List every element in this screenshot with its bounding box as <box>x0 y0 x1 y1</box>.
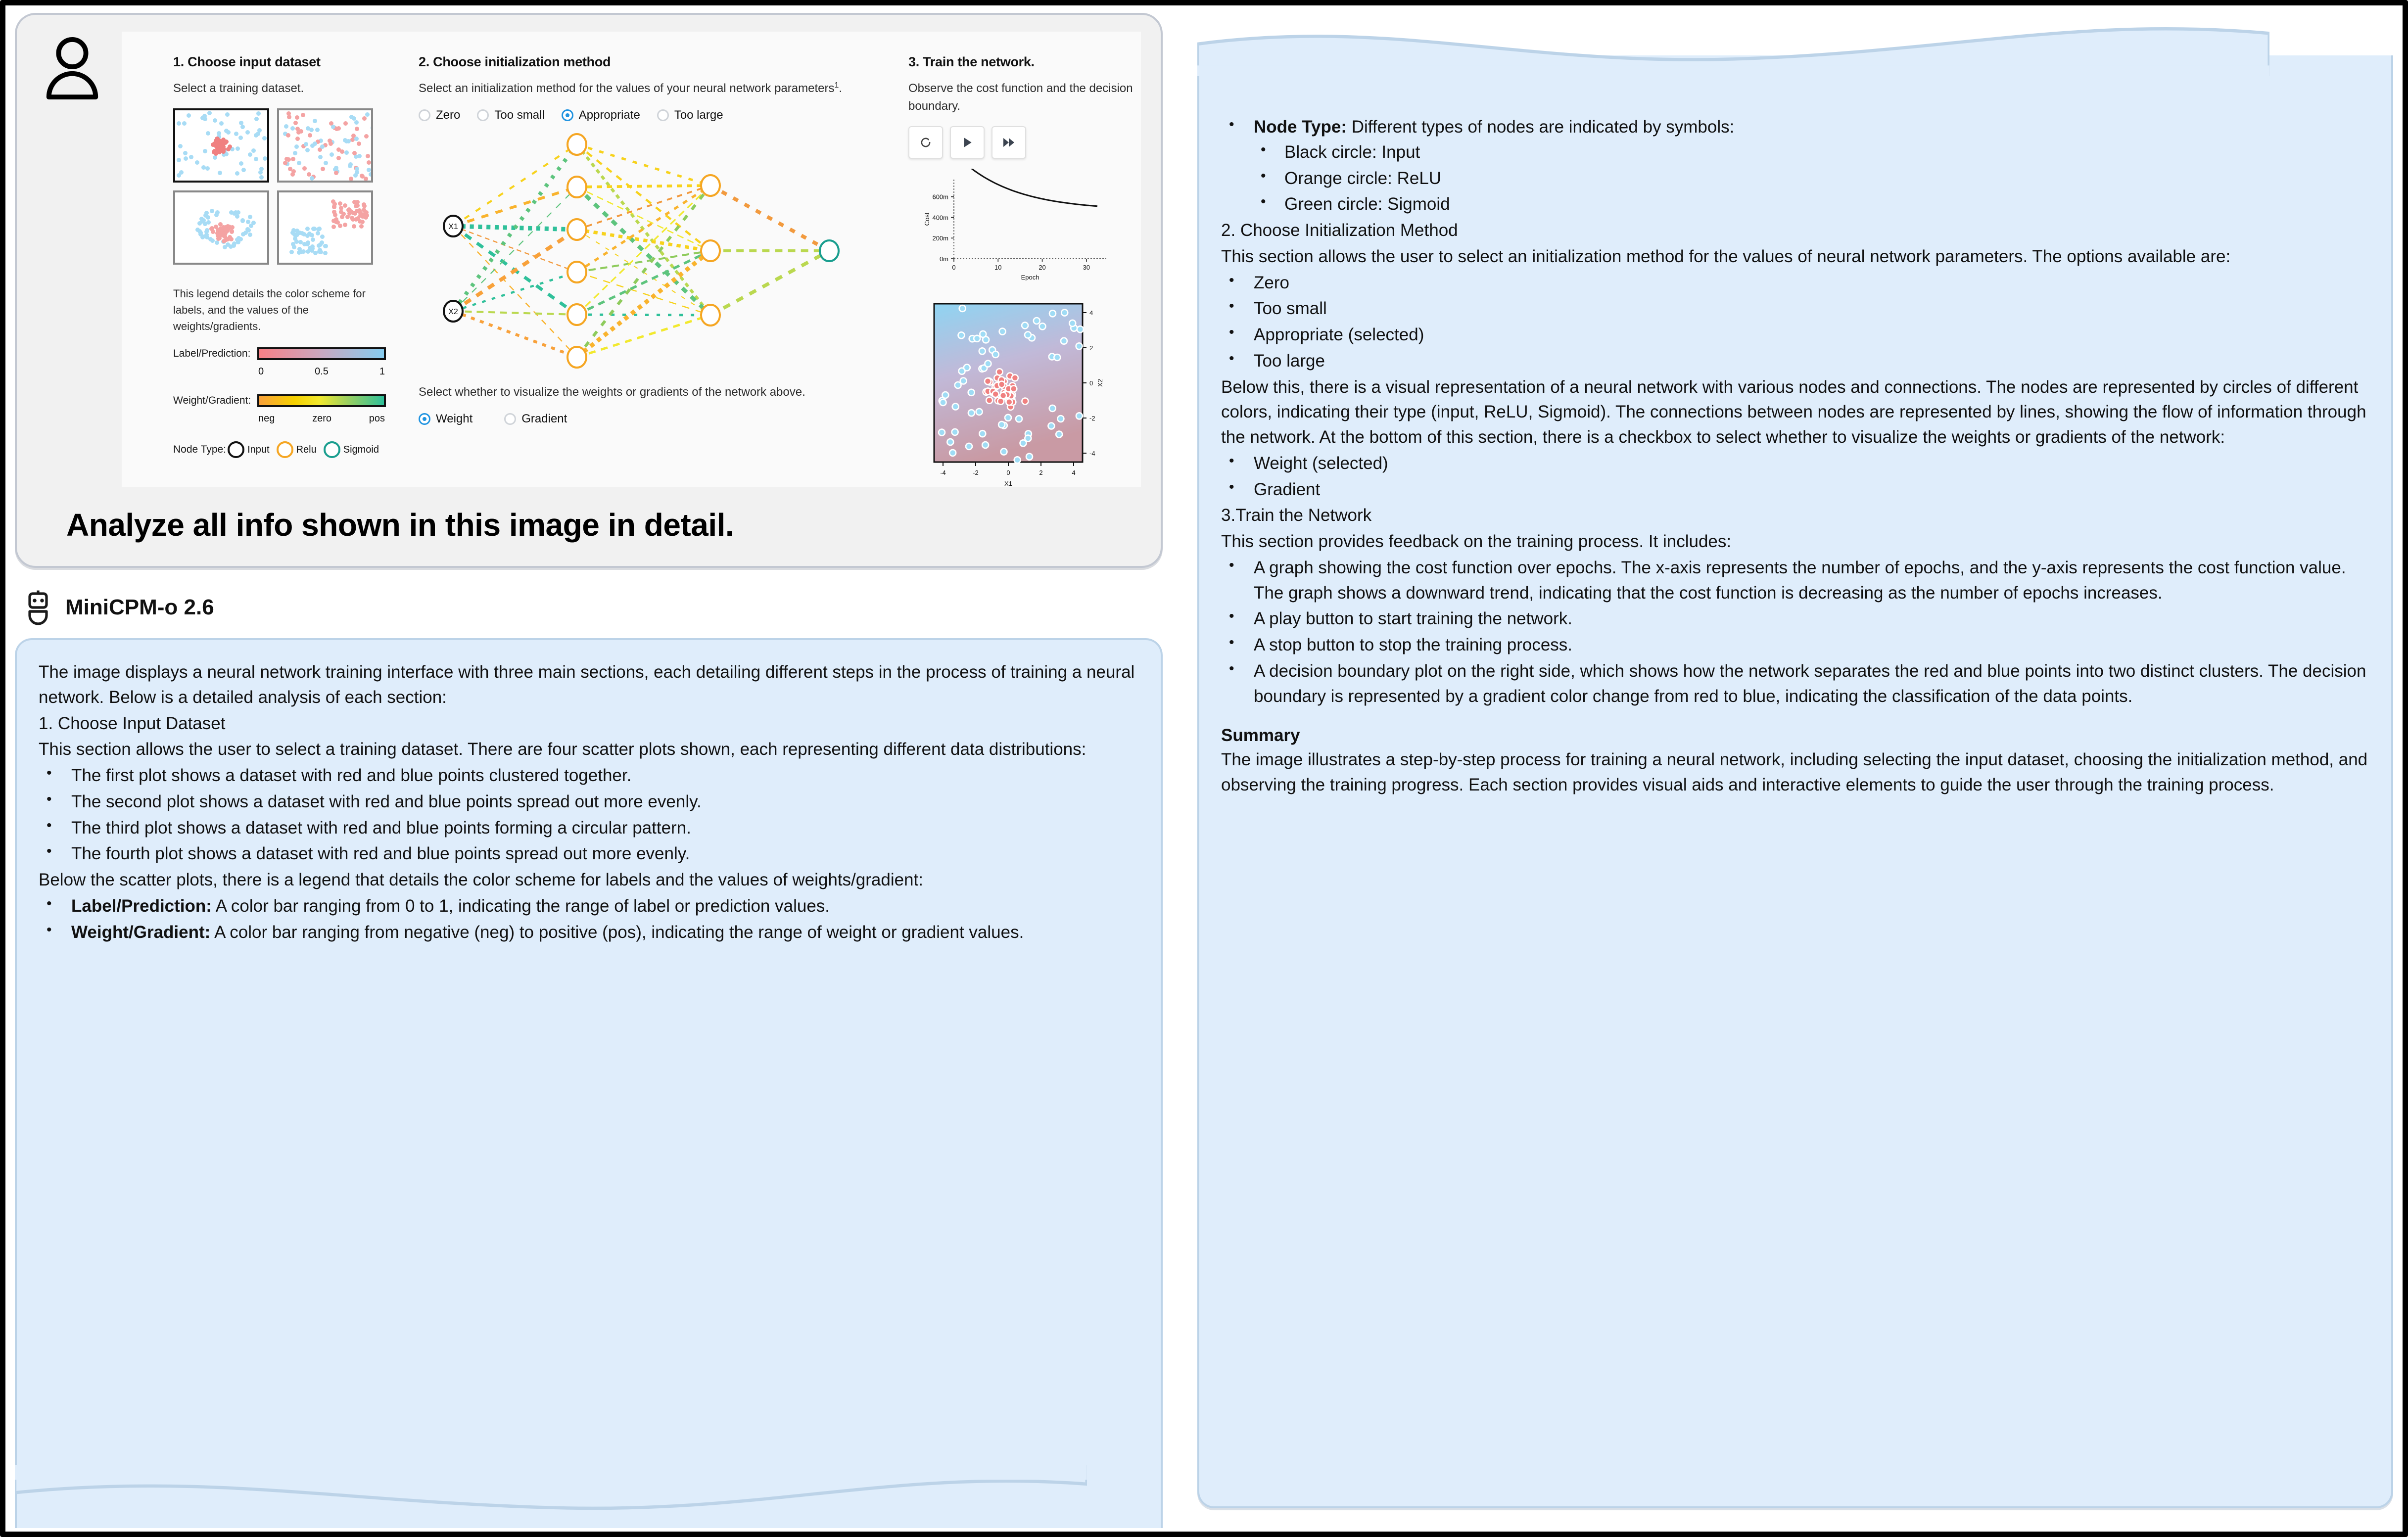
list-item: Green circle: Sigmoid <box>1254 192 2369 217</box>
svg-text:X2: X2 <box>1096 379 1104 387</box>
node-type-sigmoid: Sigmoid <box>324 441 379 458</box>
training-controls <box>908 126 1141 159</box>
list-item: Black circle: Input <box>1254 140 2369 165</box>
radio-label: Zero <box>436 108 460 122</box>
svg-text:600m: 600m <box>932 193 948 201</box>
node-type-input: Input <box>228 441 269 458</box>
viz-prompt: Select whether to visualize the weights … <box>419 383 864 401</box>
node-type-name: Input <box>247 444 269 456</box>
viz-option-weight[interactable]: Weight <box>419 412 472 426</box>
radio-button-selected[interactable] <box>419 413 430 425</box>
weight-gradient-colorbar <box>257 394 386 407</box>
viz-options-bullet-list: Weight (selected) Gradient <box>1221 451 2369 503</box>
fast-forward-icon <box>1002 136 1016 149</box>
svg-text:0m: 0m <box>940 255 948 263</box>
assistant-name: MiniCPM-o 2.6 <box>65 595 214 620</box>
bullet-bold: Weight/Gradient: <box>71 923 210 942</box>
assistant-header: MiniCPM-o 2.6 <box>23 590 1163 625</box>
init-option-too-small[interactable]: Too small <box>477 108 544 122</box>
bubble-wave-top <box>1197 12 2269 76</box>
svg-text:Epoch: Epoch <box>1021 274 1039 281</box>
radio-button[interactable] <box>504 413 516 425</box>
list-item: Orange circle: ReLU <box>1254 166 2369 191</box>
list-item: Gradient <box>1221 477 2369 503</box>
init-option-zero[interactable]: Zero <box>419 108 460 122</box>
relu-node-icon <box>277 441 293 458</box>
user-prompt-text: Analyze all info shown in this image in … <box>37 507 1141 543</box>
bullet-text: A color bar ranging from negative (neg) … <box>210 923 1024 942</box>
list-item: Weight/Gradient: A color bar ranging fro… <box>39 920 1139 945</box>
svg-text:20: 20 <box>1039 264 1045 271</box>
training-bullet-list: A graph showing the cost function over e… <box>1221 556 2369 709</box>
list-item: The first plot shows a dataset with red … <box>39 763 1139 789</box>
svg-text:X1: X1 <box>448 223 458 231</box>
label-prediction-label: Label/Prediction: <box>173 348 257 360</box>
svg-text:-2: -2 <box>973 469 979 476</box>
list-item: Too large <box>1221 349 2369 374</box>
bubble-wave-bottom <box>15 1465 1087 1529</box>
svg-text:400m: 400m <box>932 214 948 221</box>
svg-text:-4: -4 <box>940 469 946 476</box>
list-item: A decision boundary plot on the right si… <box>1221 659 2369 709</box>
weight-gradient-label: Weight/Gradient: <box>173 395 257 407</box>
svg-text:30: 30 <box>1083 264 1090 271</box>
viz-option-gradient[interactable]: Gradient <box>504 412 567 426</box>
node-type-name: Relu <box>296 444 317 456</box>
node-type-bullet-list: Node Type: Different types of nodes are … <box>1221 115 2369 217</box>
list-item: The third plot shows a dataset with red … <box>39 816 1139 841</box>
viz-radiogroup: Weight Gradient <box>419 412 864 426</box>
list-item: Too small <box>1221 296 2369 322</box>
tick: zero <box>312 413 331 424</box>
init-method-radiogroup: Zero Too small Appropriate <box>419 108 864 122</box>
svg-text:-4: -4 <box>1089 450 1095 457</box>
node-symbol-sublist: Black circle: Input Orange circle: ReLU … <box>1254 140 2369 217</box>
attached-screenshot: 1. Choose input dataset Select a trainin… <box>122 32 1141 487</box>
response-p4: Below this, there is a visual representa… <box>1221 375 2369 450</box>
sigmoid-node-icon <box>324 441 340 458</box>
node-type-label: Node Type: <box>173 444 228 456</box>
svg-text:2: 2 <box>1089 344 1093 352</box>
radio-button[interactable] <box>477 109 489 121</box>
step2-heading: 2. Choose initialization method <box>419 54 864 70</box>
step2-panel: 2. Choose initialization method Select a… <box>419 54 864 431</box>
response-h1: 1. Choose Input Dataset <box>39 711 1139 737</box>
list-item: Appropriate (selected) <box>1221 323 2369 348</box>
legend: This legend details the color scheme for… <box>173 285 386 458</box>
assistant-response-right: Node Type: Different types of nodes are … <box>1197 55 2393 1508</box>
neural-network-diagram[interactable]: X1X2 <box>424 127 859 374</box>
reset-button[interactable] <box>908 126 943 159</box>
radio-button[interactable] <box>657 109 669 121</box>
radio-button-selected[interactable] <box>562 109 573 121</box>
radio-label: Appropriate <box>579 108 640 122</box>
user-message-card: 1. Choose input dataset Select a trainin… <box>15 13 1163 568</box>
decision-boundary-plot: -4-2024-4-2024X1X2 <box>908 295 1116 487</box>
summary-heading: Summary <box>1221 726 2369 745</box>
init-option-appropriate[interactable]: Appropriate <box>562 108 640 122</box>
dataset-bullet-list: The first plot shows a dataset with red … <box>39 763 1139 867</box>
robot-icon <box>23 590 53 625</box>
response-p5: This section provides feedback on the tr… <box>1221 529 2369 555</box>
step3-heading: 3. Train the network. <box>908 54 1141 70</box>
radio-label: Gradient <box>521 412 567 426</box>
weight-gradient-row: Weight/Gradient: <box>173 394 386 407</box>
label-prediction-row: Label/Prediction: <box>173 347 386 360</box>
cost-chart: 0m200m400m600m0102030EpochCost <box>908 169 1116 287</box>
response-h2: 2. Choose Initialization Method <box>1221 218 2369 243</box>
period: . <box>839 82 842 95</box>
step1-panel: 1. Choose input dataset Select a trainin… <box>173 54 386 458</box>
svg-text:-2: -2 <box>1089 415 1095 422</box>
step2-subtitle-text: Select an initialization method for the … <box>419 82 834 95</box>
step1-subtitle: Select a training dataset. <box>173 80 386 97</box>
play-button[interactable] <box>950 126 985 159</box>
step2-subtitle: Select an initialization method for the … <box>419 80 864 97</box>
list-item: A graph showing the cost function over e… <box>1221 556 2369 606</box>
legend-description: This legend details the color scheme for… <box>173 285 386 334</box>
response-p2: Below the scatter plots, there is a lege… <box>39 868 1139 893</box>
response-intro: The image displays a neural network trai… <box>39 660 1139 710</box>
init-option-too-large[interactable]: Too large <box>657 108 723 122</box>
list-item: A stop button to stop the training proce… <box>1221 633 2369 658</box>
dataset-thumbnails <box>173 108 373 265</box>
svg-text:200m: 200m <box>932 234 948 242</box>
dataset-option-0[interactable] <box>173 108 269 183</box>
node-type-relu: Relu <box>277 441 317 458</box>
dataset-option-1[interactable] <box>277 108 373 183</box>
refresh-icon <box>919 136 933 149</box>
tick: 0 <box>258 366 264 377</box>
svg-text:2: 2 <box>1039 469 1042 476</box>
step1-heading: 1. Choose input dataset <box>173 54 386 70</box>
svg-text:4: 4 <box>1072 469 1075 476</box>
list-item: The second plot shows a dataset with red… <box>39 790 1139 815</box>
node-type-legend: Node Type: Input Relu <box>173 441 386 458</box>
list-item: Node Type: Different types of nodes are … <box>1221 115 2369 217</box>
label-prediction-colorbar <box>257 347 386 360</box>
svg-text:0: 0 <box>1006 469 1010 476</box>
list-item: Weight (selected) <box>1221 451 2369 476</box>
tick: 1 <box>379 366 385 377</box>
init-options-bullet-list: Zero Too small Appropriate (selected) To… <box>1221 271 2369 374</box>
tick: neg <box>258 413 275 424</box>
person-icon <box>43 37 102 101</box>
dataset-option-3[interactable] <box>277 190 373 265</box>
node-type-name: Sigmoid <box>343 444 379 456</box>
svg-text:X1: X1 <box>1004 480 1012 487</box>
svg-text:0: 0 <box>952 264 955 271</box>
assistant-response-left: The image displays a neural network trai… <box>15 638 1163 1528</box>
step3-panel: 3. Train the network. Observe the cost f… <box>908 54 1141 487</box>
radio-label: Too large <box>674 108 723 122</box>
tick: 0.5 <box>315 366 329 377</box>
response-h3: 3.Train the Network <box>1221 503 2369 528</box>
dataset-option-2[interactable] <box>173 190 269 265</box>
response-p3: This section allows the user to select a… <box>1221 244 2369 270</box>
response-summary: The image illustrates a step-by-step pro… <box>1221 747 2369 798</box>
weight-gradient-ticks: neg zero pos <box>257 412 386 424</box>
bullet-bold: Label/Prediction: <box>71 896 212 916</box>
step-button[interactable] <box>992 126 1026 159</box>
svg-text:10: 10 <box>994 264 1001 271</box>
list-item: Zero <box>1221 271 2369 296</box>
response-p1: This section allows the user to select a… <box>39 737 1139 762</box>
list-item: Label/Prediction: A color bar ranging fr… <box>39 894 1139 919</box>
radio-label: Weight <box>436 412 472 426</box>
bullet-bold: Node Type: <box>1254 117 1347 137</box>
legend-bullet-list: Label/Prediction: A color bar ranging fr… <box>39 894 1139 945</box>
play-icon <box>961 136 974 149</box>
bullet-text: Different types of nodes are indicated b… <box>1347 117 1734 137</box>
list-item: The fourth plot shows a dataset with red… <box>39 841 1139 867</box>
radio-button[interactable] <box>419 109 430 121</box>
list-item: A play button to start training the netw… <box>1221 606 2369 632</box>
radio-label: Too small <box>494 108 544 122</box>
svg-text:4: 4 <box>1089 309 1093 317</box>
label-prediction-ticks: 0 0.5 1 <box>257 365 386 377</box>
step3-subtitle: Observe the cost function and the decisi… <box>908 80 1141 115</box>
tick: pos <box>369 413 385 424</box>
svg-text:Cost: Cost <box>923 212 931 226</box>
svg-text:0: 0 <box>1089 379 1093 387</box>
svg-text:X2: X2 <box>448 308 458 316</box>
input-node-icon <box>228 441 244 458</box>
bullet-text: A color bar ranging from 0 to 1, indicat… <box>212 896 830 916</box>
